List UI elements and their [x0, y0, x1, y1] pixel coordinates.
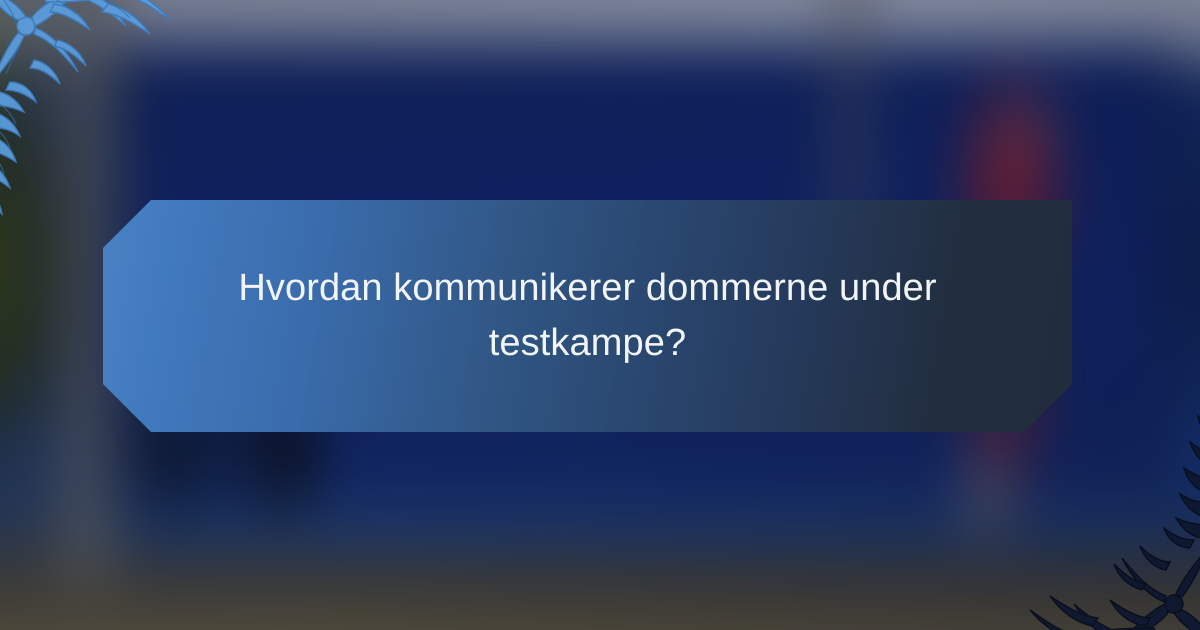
question-card-stage: Hvordan kommunikerer dommerne under test…	[0, 0, 1200, 630]
question-card: Hvordan kommunikerer dommerne under test…	[103, 200, 1072, 432]
question-text: Hvordan kommunikerer dommerne under test…	[208, 261, 968, 370]
